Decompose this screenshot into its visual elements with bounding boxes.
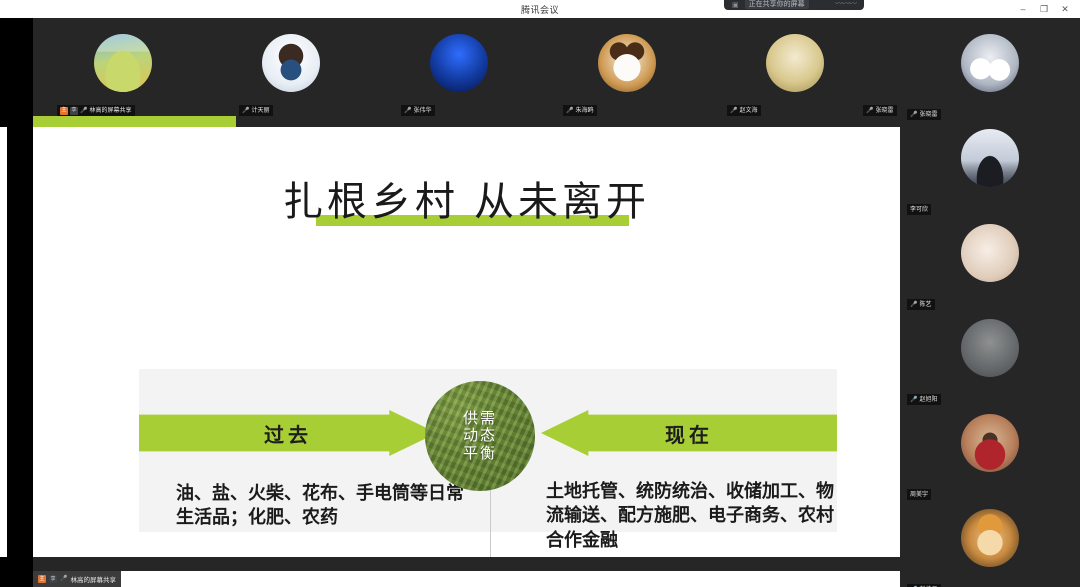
participant-name: 张伟华 (413, 108, 431, 114)
arrow-present: 现在 (541, 410, 837, 456)
participant-namebar: 🎤 陈艺 (907, 299, 935, 310)
mic-off-icon: 🎤 (910, 302, 917, 308)
avatar (961, 319, 1019, 377)
floating-share-toolbar[interactable]: ▣ 正在共享你的屏幕 〰〰〰 (724, 0, 864, 10)
slide-title: 扎根乡村 从未离开 (33, 169, 900, 227)
filmstrip-tile[interactable]: 🎤 朱海鸥 (555, 18, 699, 116)
circle-line-1: 供需 (463, 410, 497, 427)
host-badge: 主 (60, 107, 68, 115)
avatar (766, 34, 824, 92)
host-badge: 主 (38, 575, 46, 583)
active-speaker-bar (33, 116, 236, 127)
arrow-past-label: 过去 (264, 419, 312, 448)
avatar (598, 34, 656, 92)
sidebar-tile[interactable]: 周美宇 (900, 408, 1080, 503)
participant-namebar: 主 享 🎤 林高的屏幕共享 (57, 105, 135, 116)
filmstrip-tile[interactable]: 🎤 赵文海 (723, 18, 867, 116)
bottom-share-label: 林高的屏幕共享 (70, 574, 116, 584)
participant-name: 林高的屏幕共享 (89, 108, 131, 114)
participant-name: 张晓雷 (919, 112, 937, 118)
mic-off-icon: 🎤 (242, 108, 249, 114)
mic-on-icon: 🎤 (60, 576, 67, 582)
close-icon[interactable]: ✕ (1060, 5, 1070, 14)
audio-wave-icon: 〰〰〰 (835, 0, 856, 9)
filmstrip-tile[interactable]: 🎤 计天丽 (219, 18, 363, 116)
left-gutter-white-edge (0, 127, 7, 557)
participant-name: 陈艺 (919, 302, 931, 308)
participant-name: 李可欣 (910, 207, 928, 213)
mic-on-icon: 🎤 (80, 108, 87, 114)
circle-line-3: 平衡 (463, 445, 497, 462)
mic-off-icon: 🎤 (910, 397, 917, 403)
meeting-window: 主 享 🎤 林高的屏幕共享 🎤 计天丽 🎤 张伟华 (0, 18, 1080, 587)
sidebar-tile[interactable]: 🎤 张晓雷 (900, 28, 1080, 123)
left-gutter (0, 18, 33, 587)
participant-namebar: 🎤 赵旭阳 (907, 394, 941, 405)
arrow-present-label: 现在 (665, 419, 713, 448)
participant-namebar: 李可欣 (907, 204, 931, 215)
avatar (262, 34, 320, 92)
filmstrip-tile[interactable]: 主 享 🎤 林高的屏幕共享 (51, 18, 195, 116)
body-text-past: 油、盐、火柴、花布、手电筒等日常生活品；化肥、农药 (176, 481, 466, 530)
participant-filmstrip: 主 享 🎤 林高的屏幕共享 🎤 计天丽 🎤 张伟华 (33, 18, 900, 116)
share-badge: 享 (70, 107, 78, 115)
avatar (961, 509, 1019, 567)
participant-name: 张晓雷 (875, 108, 893, 114)
bottom-bar: 主 享 🎤 林高的屏幕共享 (33, 571, 900, 587)
participant-namebar: 🎤 赵文海 (727, 105, 761, 116)
participant-namebar: 周美宇 (907, 489, 931, 500)
filmstrip-tile[interactable]: 🎤 张晓雷 (861, 18, 901, 116)
mic-off-icon: 🎤 (566, 108, 573, 114)
avatar (961, 129, 1019, 187)
bottom-share-chip: 主 享 🎤 林高的屏幕共享 (33, 571, 121, 587)
arrow-past: 过去 (139, 410, 437, 456)
mic-off-icon: 🎤 (910, 112, 917, 118)
participant-namebar: 🎤 朱海鸥 (563, 105, 597, 116)
participant-namebar: 🎤 张晓雷 (907, 109, 941, 120)
window-titlebar: 腾讯会议 – ❐ ✕ (0, 0, 1080, 18)
window-controls: – ❐ ✕ (1018, 0, 1076, 18)
participant-name: 计天丽 (251, 108, 269, 114)
participant-namebar: 🎤 张伟华 (401, 105, 435, 116)
sidebar-tile[interactable]: 李可欣 (900, 123, 1080, 218)
avatar (961, 224, 1019, 282)
share-badge: 享 (49, 575, 57, 583)
participant-name: 朱海鸥 (575, 108, 593, 114)
sidebar-tile[interactable]: 🎤 刘佳月 (900, 503, 1080, 587)
sidebar-tile[interactable]: 🎤 陈艺 (900, 218, 1080, 313)
mic-off-icon: 🎤 (866, 108, 873, 114)
participant-name: 赵旭阳 (919, 397, 937, 403)
sidebar-tile[interactable]: 🎤 赵旭阳 (900, 313, 1080, 408)
presentation-slide: 扎根乡村 从未离开 过去 现在 供需 动态 平衡 油、盐、火柴、花布、手电筒等日… (33, 127, 900, 557)
minimize-icon[interactable]: – (1018, 5, 1028, 14)
participant-name: 周美宇 (910, 492, 928, 498)
floating-toolbar-label: 正在共享你的屏幕 (745, 0, 809, 9)
maximize-icon[interactable]: ❐ (1039, 5, 1049, 14)
participant-sidebar[interactable]: 🎤 张晓雷 李可欣 🎤 陈艺 🎤 赵旭阳 (900, 18, 1080, 587)
mic-off-icon: 🎤 (404, 108, 411, 114)
avatar (94, 34, 152, 92)
center-circle-balance: 供需 动态 平衡 (425, 381, 535, 491)
app-title: 腾讯会议 (521, 3, 559, 16)
body-text-present: 土地托管、统防统治、收储加工、物流输送、配方施肥、电子商务、农村合作金融 (546, 479, 838, 552)
mic-off-icon: 🎤 (730, 108, 737, 114)
circle-line-2: 动态 (463, 427, 497, 444)
filmstrip-tile[interactable]: 🎤 张伟华 (387, 18, 531, 116)
participant-namebar: 🎤 张晓雷 (863, 105, 897, 116)
participant-name: 赵文海 (739, 108, 757, 114)
avatar (430, 34, 488, 92)
participant-namebar: 🎤 计天丽 (239, 105, 273, 116)
avatar (961, 34, 1019, 92)
screen-share-icon: ▣ (732, 1, 739, 9)
shared-screen-stage: 主 享 🎤 林高的屏幕共享 🎤 计天丽 🎤 张伟华 (33, 18, 900, 571)
avatar (961, 414, 1019, 472)
